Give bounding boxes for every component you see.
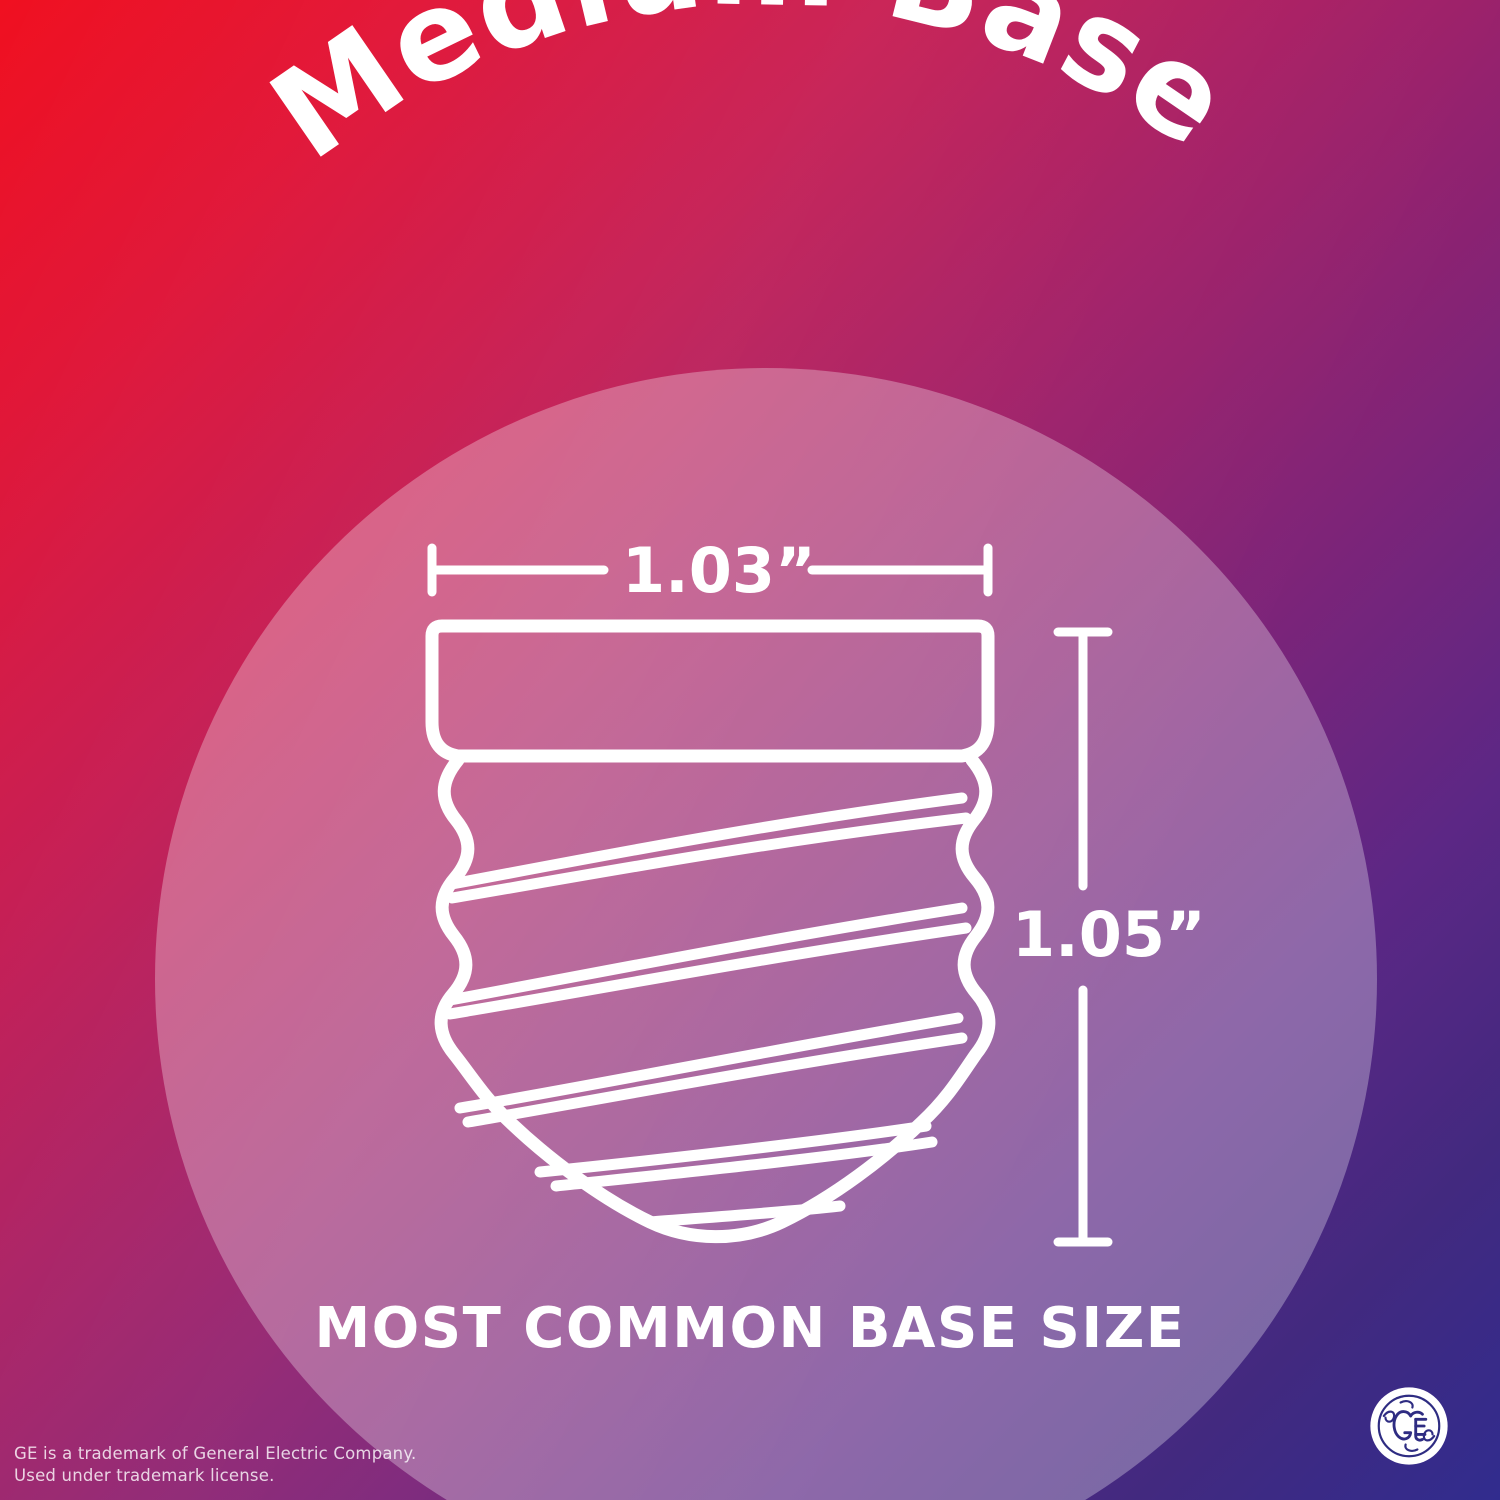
caption-text: MOST COMMON BASE SIZE xyxy=(0,1296,1500,1361)
legal-disclaimer: GE is a trademark of General Electric Co… xyxy=(14,1443,416,1487)
bulb-collar xyxy=(432,626,988,756)
legal-line-2: Used under trademark license. xyxy=(14,1465,416,1487)
bulb-base-diagram xyxy=(0,0,1500,1500)
legal-line-1: GE is a trademark of General Electric Co… xyxy=(14,1443,416,1465)
width-dimension-label: 1.03” xyxy=(622,534,816,607)
infographic-canvas: Medium Base xyxy=(0,0,1500,1500)
height-dimension-label: 1.05” xyxy=(1012,898,1206,971)
ge-logo xyxy=(1367,1384,1451,1468)
